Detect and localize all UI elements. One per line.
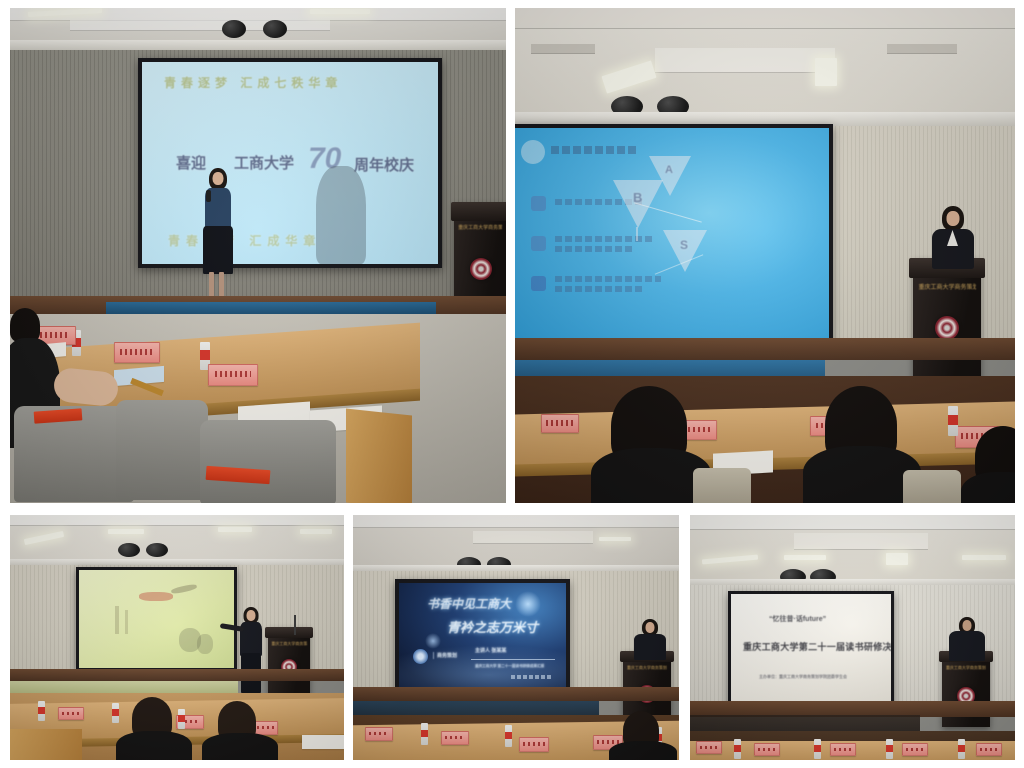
photo-bottom-center[interactable]: 书香中见工商大 青衿之志万米寸 商务策划 主讲人 张某某 重庆工商大学 第二十一… <box>353 515 679 760</box>
slide-headline: 青春逐梦 汇成七秩华章 <box>164 74 342 91</box>
slide-logo <box>413 649 428 664</box>
ceiling-light <box>784 555 826 560</box>
ceiling-beam <box>794 533 928 550</box>
photo-bottom-left[interactable]: 重庆工商大学商务策划学院 <box>10 515 344 760</box>
presenter-face <box>247 610 256 621</box>
projection-screen: B A S <box>515 124 833 344</box>
slide-footer: 青春逐梦 汇成华章 <box>168 232 321 249</box>
nameplate <box>541 414 579 433</box>
slide-bullet-badge-1 <box>531 196 546 211</box>
slide-subtitle: 主办单位：重庆工商大学商务策划学院团委学生会 <box>759 674 847 680</box>
speaker-face <box>646 622 655 633</box>
slide-title-main: 重庆工商大学第二十一届读书研修决赛 <box>743 640 891 653</box>
nameplate <box>976 743 1002 756</box>
microphone-stand <box>294 615 296 635</box>
water-bottle <box>958 739 965 759</box>
paper-sheet <box>302 735 344 749</box>
nameplate <box>208 364 258 386</box>
slide-header-text <box>551 146 639 154</box>
chair <box>903 470 961 503</box>
projection-screen <box>76 567 237 671</box>
stage-front <box>353 687 679 701</box>
screen-surface: B A S <box>515 128 829 340</box>
nameplate <box>441 731 469 745</box>
photo-top-left[interactable]: 青春逐梦 汇成七秩华章 喜迎 工商大学 70 周年校庆 青春逐梦 汇成华章 重庆… <box>10 8 506 503</box>
slide-ink-mark <box>125 610 128 634</box>
slide-bullet-text-2 <box>555 236 655 242</box>
slide-subtitle: 主讲人 张某某 <box>475 647 506 654</box>
podium-seal <box>470 258 492 280</box>
slide-divider <box>471 659 555 660</box>
podium-text: 重庆工商大学商务策划学院 <box>627 665 667 671</box>
stage-front <box>515 338 1015 360</box>
slide-main-university: 工商大学 <box>234 152 294 173</box>
audience-member <box>595 386 705 503</box>
diagram-label-s: S <box>680 238 688 252</box>
ceiling-vent <box>531 44 595 54</box>
screen-surface: “忆往昔·话future” 重庆工商大学第二十一届读书研修决赛 主办单位：重庆工… <box>731 594 891 704</box>
audience-body <box>202 733 278 760</box>
podium-text: 重庆工商大学商务策划学院 <box>946 665 986 671</box>
podium: 重庆工商大学商务策划学院 <box>913 258 981 388</box>
slide-logo-label: 商务策划 <box>433 652 457 659</box>
podium-seal <box>935 316 959 340</box>
audience-body <box>116 731 192 760</box>
speaker-face <box>947 211 960 226</box>
water-bottle <box>886 739 893 759</box>
presenter-face <box>213 172 224 185</box>
presenter-at-podium <box>946 617 988 661</box>
slide-signature <box>511 675 553 679</box>
nameplate <box>902 743 928 756</box>
projection-screen: “忆往昔·话future” 重庆工商大学第二十一届读书研修决赛 主办单位：重庆工… <box>728 591 894 707</box>
presenter-microphone <box>206 190 211 202</box>
ceiling-light <box>962 555 1006 560</box>
presenter-face <box>963 620 972 631</box>
diagram-stem-b <box>636 227 638 241</box>
nameplate <box>830 743 856 756</box>
water-bottle <box>505 725 512 747</box>
table-side-panel <box>346 409 412 503</box>
slide-footnote: 重庆工商大学 第二十一届读书研修成果汇报 <box>475 664 544 669</box>
water-bottle <box>948 406 958 436</box>
slide-bullet-badge-2 <box>531 236 546 251</box>
starfield-glow <box>515 591 541 617</box>
stage-front <box>10 669 344 681</box>
slide-title-line-1: 书香中见工商大 <box>427 595 511 612</box>
ceiling-light <box>886 553 908 565</box>
water-bottle <box>38 701 45 721</box>
chair <box>200 420 336 503</box>
audience-member <box>615 711 671 760</box>
presenter-torso <box>949 631 985 661</box>
podium-text: 重庆工商大学商务策划学院 <box>458 224 502 231</box>
nameplate <box>696 741 722 754</box>
nameplate <box>519 737 549 752</box>
diagram-label-a: A <box>665 164 673 176</box>
nameplate <box>365 727 393 741</box>
audience-member <box>208 701 270 760</box>
podium-top <box>451 202 506 221</box>
chair <box>116 400 208 500</box>
audience-member <box>967 426 1015 503</box>
photo-bottom-right[interactable]: “忆往昔·话future” 重庆工商大学第二十一届读书研修决赛 主办单位：重庆工… <box>690 515 1015 760</box>
podium-top <box>265 627 312 638</box>
nameplate <box>58 707 84 720</box>
ceiling-light <box>815 58 837 86</box>
photo-collage: 青春逐梦 汇成七秩华章 喜迎 工商大学 70 周年校庆 青春逐梦 汇成华章 重庆… <box>0 0 1024 768</box>
table-side-panel <box>10 729 82 760</box>
presenter <box>234 607 268 695</box>
audience-body <box>961 472 1015 503</box>
screen-surface: 书香中见工商大 青衿之志万米寸 商务策划 主讲人 张某某 重庆工商大学 第二十一… <box>399 583 566 691</box>
ceiling-beam <box>690 515 1015 530</box>
slide-title-quote: “忆往昔·话future” <box>769 614 826 624</box>
presenter-skirt <box>203 226 233 274</box>
slide-ink-mark <box>115 606 119 634</box>
speaker-torso <box>634 634 666 660</box>
slide-bullet-text-3b <box>555 286 643 292</box>
speaker-at-podium <box>631 619 669 659</box>
nameplate <box>114 342 160 363</box>
podium-text: 重庆工商大学商务策划学院 <box>918 282 975 291</box>
slide-ink-mark <box>171 583 198 594</box>
speaker-at-podium <box>927 206 979 268</box>
slide-ink-mark <box>197 634 213 654</box>
nameplate <box>754 743 780 756</box>
presenter <box>196 168 240 316</box>
ceiling-beam <box>70 20 330 31</box>
ceiling-speaker-left <box>222 20 246 38</box>
chair <box>693 468 751 503</box>
screen-surface: 青春逐梦 汇成七秩华章 喜迎 工商大学 70 周年校庆 青春逐梦 汇成华章 <box>142 62 438 264</box>
slide-bullet-badge-3 <box>531 276 546 291</box>
slide-ink-mark <box>139 592 173 601</box>
water-bottle <box>814 739 821 759</box>
audience-member <box>805 386 915 503</box>
podium: 重庆工商大学商务策划学院 <box>268 627 310 699</box>
water-bottle <box>421 723 428 745</box>
slide-main-suffix: 周年校庆 <box>354 154 414 175</box>
ceiling-beam <box>10 515 344 526</box>
screen-surface <box>79 570 234 668</box>
ceiling-light <box>108 529 144 534</box>
ceiling-beam <box>353 515 679 528</box>
attendee-head <box>10 308 40 342</box>
water-bottle <box>112 703 119 723</box>
audience-member <box>122 697 184 760</box>
ceiling-vent <box>887 44 957 54</box>
slide-bullet-text-2b <box>555 246 633 252</box>
ceiling-speaker-right <box>146 543 168 557</box>
ceiling-light <box>300 529 332 534</box>
water-bottle <box>734 739 741 759</box>
presenter-shadow <box>316 166 366 264</box>
projection-screen: 青春逐梦 汇成七秩华章 喜迎 工商大学 70 周年校庆 青春逐梦 汇成华章 <box>138 58 442 268</box>
ceiling-beam <box>515 8 1015 29</box>
projection-screen: 书香中见工商大 青衿之志万米寸 商务策划 主讲人 张某某 重庆工商大学 第二十一… <box>395 579 570 695</box>
starfield-glow <box>425 633 441 649</box>
ceiling-light <box>218 527 252 532</box>
ceiling-speaker-left <box>118 543 140 557</box>
slide-header-dot <box>521 140 545 164</box>
audience-body <box>609 741 677 760</box>
slide-title-line-2: 青衿之志万米寸 <box>447 617 538 636</box>
photo-top-right[interactable]: B A S 重庆工商大学商务策划学院 <box>515 8 1015 503</box>
slide-bullet-text-3 <box>555 276 661 282</box>
ceiling-speaker-right <box>263 20 287 38</box>
podium-text: 重庆工商大学商务策划学院 <box>271 641 306 647</box>
ceiling-beam <box>473 531 593 544</box>
ceiling-beam <box>655 48 835 73</box>
ceiling-light <box>599 537 631 541</box>
ceiling-light <box>310 9 370 14</box>
